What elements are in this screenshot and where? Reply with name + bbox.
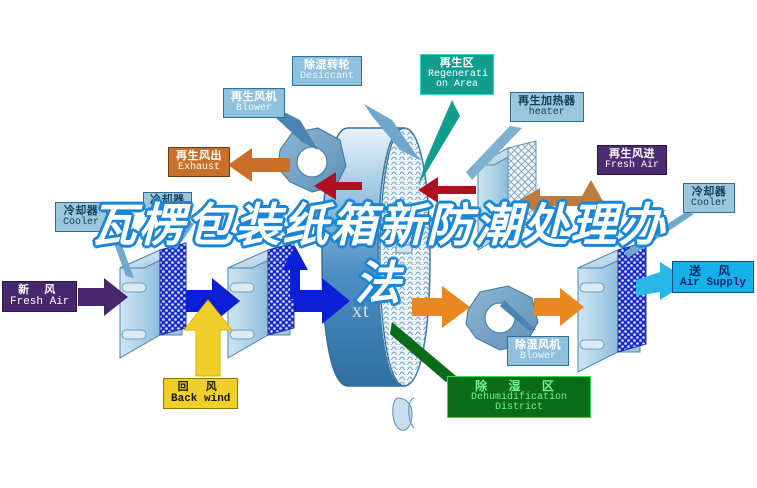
label-regen-area-en: Regenerati on Area (428, 70, 486, 91)
label-desiccant-wheel-cn: 除湿转轮 (300, 60, 354, 72)
label-dehum-blower-cn: 除湿风机 (515, 340, 561, 352)
label-fresh-air-regen[interactable]: 再生风进 Fresh Air (597, 145, 667, 175)
label-cooler-mid-cn: 冷却器 (150, 195, 185, 207)
label-fresh-air-in-cn: 新 风 (10, 285, 69, 297)
image-watermark: xt (352, 300, 370, 323)
label-regen-area[interactable]: 再生区 Regenerati on Area (420, 54, 494, 95)
label-regen-blower-cn: 再生风机 (231, 92, 277, 104)
label-regen-heater-cn: 再生加热器 (518, 96, 576, 108)
label-regen-area-cn: 再生区 (428, 58, 486, 70)
label-fresh-air-regen-en: Fresh Air (605, 161, 659, 172)
label-fresh-air-in-en: Fresh Air (10, 297, 69, 309)
label-air-supply-en: Air Supply (680, 278, 746, 290)
label-air-supply[interactable]: 送 风 Air Supply (672, 261, 754, 293)
label-regen-heater-en: heater (518, 108, 576, 119)
label-exhaust-cn: 再生风出 (176, 151, 222, 163)
diagram-graphics (0, 0, 757, 488)
label-regen-blower[interactable]: 再生风机 Blower (223, 88, 285, 118)
label-desiccant-wheel[interactable]: 除湿转轮 Desiccant (292, 56, 362, 86)
label-cooler-left-en: Cooler (63, 218, 99, 229)
label-back-wind-en: Back wind (171, 394, 230, 406)
label-dehum-district-en: Dehumidification District (455, 393, 583, 414)
label-fresh-air-in[interactable]: 新 风 Fresh Air (2, 281, 77, 312)
label-fresh-air-regen-cn: 再生风进 (605, 149, 659, 161)
cooler-coil-1 (120, 243, 186, 358)
label-dehum-district[interactable]: 除 湿 区 Dehumidification District (447, 376, 591, 418)
label-cooler-right[interactable]: 冷却器 Cooler (683, 183, 735, 213)
label-desiccant-wheel-en: Desiccant (300, 72, 354, 83)
label-cooler-left-cn: 冷却器 (63, 206, 99, 218)
label-back-wind[interactable]: 回 风 Back wind (163, 378, 238, 409)
label-cooler-right-cn: 冷却器 (691, 187, 727, 199)
diagram-canvas: 除湿转轮 Desiccant 再生风机 Blower 再生区 Regenerat… (0, 0, 757, 488)
label-regen-blower-en: Blower (231, 104, 277, 115)
label-dehum-district-cn: 除 湿 区 (455, 380, 583, 393)
label-air-supply-cn: 送 风 (680, 265, 746, 278)
label-cooler-left[interactable]: 冷却器 Cooler (55, 202, 107, 232)
label-cooler-mid[interactable]: 冷却器 (143, 192, 192, 210)
label-regen-heater[interactable]: 再生加热器 heater (510, 92, 584, 122)
cooler-coil-3 (578, 242, 646, 372)
label-exhaust[interactable]: 再生风出 Exhaust (168, 147, 230, 177)
label-dehum-blower-en: Blower (515, 352, 561, 363)
label-cooler-right-en: Cooler (691, 199, 727, 210)
regen-in-arrow-up (578, 180, 604, 240)
label-exhaust-en: Exhaust (176, 163, 222, 174)
dehum-out-arrow-2 (534, 288, 584, 326)
label-back-wind-cn: 回 风 (171, 382, 230, 394)
label-dehum-blower[interactable]: 除湿风机 Blower (507, 336, 569, 366)
